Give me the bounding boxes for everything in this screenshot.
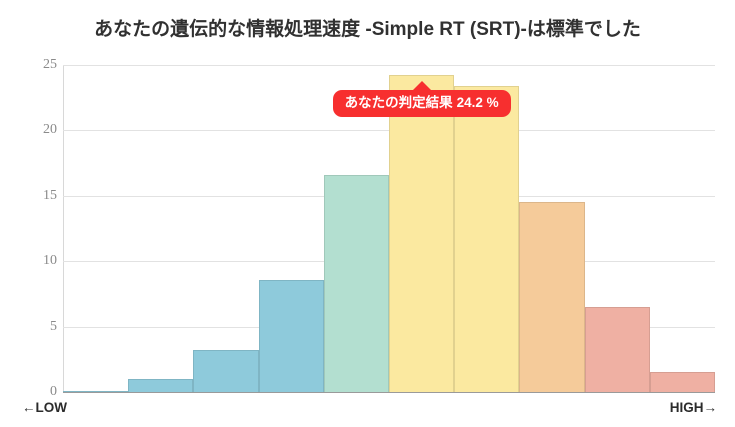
gridline bbox=[63, 392, 715, 393]
y-axis-tick-label: 10 bbox=[0, 253, 57, 269]
histogram-bar bbox=[389, 75, 454, 392]
y-axis-tick-label: 20 bbox=[0, 122, 57, 138]
histogram-bar bbox=[128, 379, 193, 392]
y-axis-tick-label: 0 bbox=[0, 384, 57, 400]
callout-label: あなたの判定結果 bbox=[345, 95, 453, 110]
histogram-bar bbox=[193, 350, 258, 392]
callout-arrow-icon bbox=[413, 81, 431, 90]
y-axis-tick-label: 5 bbox=[0, 319, 57, 335]
y-axis-tick-label: 15 bbox=[0, 188, 57, 204]
y-axis-tick-label: 25 bbox=[0, 57, 57, 73]
chart-screenshot: あなたの遺伝的な情報処理速度 -Simple RT (SRT)-は標準でした 0… bbox=[0, 0, 735, 427]
x-axis-high-label: HIGH→ bbox=[670, 400, 717, 415]
histogram-bar bbox=[454, 86, 519, 392]
histogram-bar bbox=[259, 280, 324, 392]
histogram-bar bbox=[324, 175, 389, 392]
histogram-bar bbox=[63, 391, 128, 392]
page-title: あなたの遺伝的な情報処理速度 -Simple RT (SRT)-は標準でした bbox=[0, 14, 735, 41]
x-axis-low-label: ←LOW bbox=[22, 400, 67, 415]
result-callout-badge: あなたの判定結果24.2 % bbox=[333, 90, 511, 117]
histogram-bar bbox=[650, 372, 715, 392]
histogram-bar bbox=[519, 202, 584, 392]
callout-value: 24.2 % bbox=[457, 95, 499, 110]
histogram-bar bbox=[585, 307, 650, 392]
